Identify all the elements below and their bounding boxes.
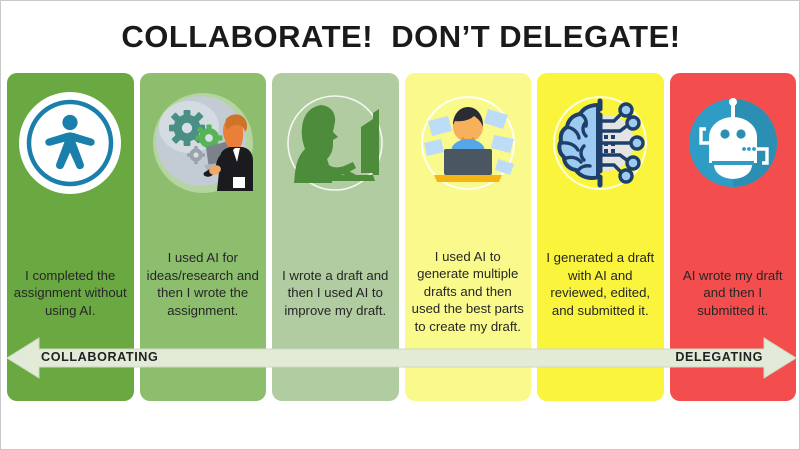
person-typing-silhouette-icon [279, 87, 391, 199]
page-title: COLLABORATE! DON’T DELEGATE! [1, 19, 800, 55]
column-caption: I used AI to generate multiple drafts an… [411, 248, 526, 335]
spectrum-column-5[interactable]: I generated a draft with AI and reviewed… [537, 73, 664, 401]
arrow-label-delegating: DELEGATING [675, 350, 763, 364]
spectrum-column-3[interactable]: I wrote a draft and then I used AI to im… [272, 73, 399, 401]
robot-head-icon [677, 87, 789, 199]
column-caption: I generated a draft with AI and reviewed… [543, 249, 658, 319]
gears-researcher-laptop-icon [147, 87, 259, 199]
spectrum-column-4[interactable]: I used AI to generate multiple drafts an… [405, 73, 532, 401]
column-caption: I used AI for ideas/research and then I … [146, 249, 261, 319]
brain-circuit-icon [544, 87, 656, 199]
column-caption: I completed the assignment without using… [13, 267, 128, 319]
infographic-canvas: COLLABORATE! DON’T DELEGATE! I completed… [0, 0, 800, 450]
column-caption: AI wrote my draft and then I submitted i… [676, 267, 791, 319]
person-laptop-flying-papers-icon [412, 87, 524, 199]
column-caption: I wrote a draft and then I used AI to im… [278, 267, 393, 319]
arrow-label-collaborating: COLLABORATING [41, 350, 158, 364]
accessibility-person-icon [14, 87, 126, 199]
spectrum-column-2[interactable]: I used AI for ideas/research and then I … [140, 73, 267, 401]
